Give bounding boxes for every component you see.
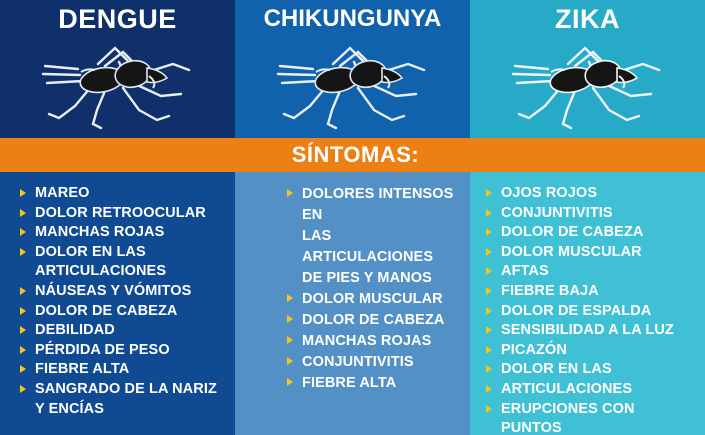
symptom-list-dengue: MAREODOLOR RETROOCULARMANCHAS ROJASDOLOR… (20, 184, 229, 419)
bullet-arrow-icon (287, 357, 293, 365)
symptom-label: AFTAS (501, 263, 549, 279)
symptom-item: DOLOR RETROOCULAR (20, 204, 229, 224)
bullet-arrow-icon (20, 326, 26, 334)
symptom-item: SENSIBILIDAD A LA LUZ (486, 321, 699, 341)
symptom-label: DOLOR DE CABEZA (35, 303, 177, 319)
symptom-column-dengue: MAREODOLOR RETROOCULARMANCHAS ROJASDOLOR… (0, 172, 235, 435)
symptom-label: FIEBRE BAJA (501, 283, 599, 299)
symptom-item: CONJUNTIVITIS (287, 352, 464, 373)
bullet-arrow-icon (20, 228, 26, 236)
bullet-arrow-icon (486, 326, 492, 334)
bullet-arrow-icon (20, 346, 26, 354)
header-title-zika: ZIKA (555, 4, 620, 34)
symptom-item: CONJUNTIVITIS (486, 204, 699, 224)
dengue-chikungunya-zika-infographic: DENGUE (0, 0, 705, 435)
bullet-arrow-icon (486, 189, 492, 197)
symptom-label: CONJUNTIVITIS (501, 205, 613, 221)
symptom-label: MAREO (35, 185, 89, 201)
symptom-label: ARTICULACIONES (35, 263, 166, 279)
symptom-label: DOLOR MUSCULAR (302, 291, 443, 307)
symptom-label: SANGRADO DE LA NARIZ (35, 381, 217, 397)
header-cell-dengue: DENGUE (0, 0, 235, 138)
symptom-item: MAREO (20, 184, 229, 204)
bullet-arrow-icon (486, 385, 492, 393)
symptom-item: DOLOR DE CABEZA (486, 223, 699, 243)
bullet-arrow-icon (20, 209, 26, 217)
symptom-item: DOLOR DE ESPALDA (486, 302, 699, 322)
bullet-arrow-icon (486, 346, 492, 354)
symptom-item: DOLOR EN LAS (486, 360, 699, 380)
symptom-item: DOLOR DE CABEZA (20, 302, 229, 322)
symptom-item: AFTAS (486, 262, 699, 282)
symptom-label: DOLORES INTENSOS EN (302, 186, 453, 223)
symptom-item: ARTICULACIONES (486, 380, 699, 400)
bullet-arrow-icon (287, 294, 293, 302)
symptom-label: Y ENCÍAS (35, 401, 104, 417)
bullet-arrow-icon (20, 248, 26, 256)
symptom-item: DOLOR MUSCULAR (486, 243, 699, 263)
symptom-label: DE PIES Y MANOS (302, 270, 432, 286)
header-cell-zika: ZIKA (470, 0, 705, 138)
bullet-arrow-icon (20, 365, 26, 373)
symptom-label: MANCHAS ROJAS (35, 224, 164, 240)
bullet-arrow-icon (287, 378, 293, 386)
symptom-label: OJOS ROJOS (501, 185, 597, 201)
symptom-item: LAS ARTICULACIONES (287, 226, 464, 268)
mosquito-icon (23, 36, 213, 132)
mosquito-icon (493, 36, 683, 132)
symptom-label: SENSIBILIDAD A LA LUZ (501, 322, 674, 338)
symptom-item: ERUPCIONES CON PUNTOS (486, 400, 699, 435)
header-row: DENGUE (0, 0, 705, 138)
symptom-item: DOLOR EN LAS (20, 243, 229, 263)
symptom-item: FIEBRE ALTA (20, 360, 229, 380)
symptom-item: DOLORES INTENSOS EN (287, 184, 464, 226)
symptom-item: OJOS ROJOS (486, 184, 699, 204)
symptom-label: DEBILIDAD (35, 322, 115, 338)
symptom-item: DE PIES Y MANOS (287, 268, 464, 289)
header-cell-chikungunya: CHIKUNGUNYA (235, 0, 470, 138)
symptom-label: LAS ARTICULACIONES (302, 228, 433, 265)
header-title-dengue: DENGUE (58, 4, 177, 34)
symptom-item: PICAZÓN (486, 341, 699, 361)
symptom-list-chikungunya: DOLORES INTENSOS ENLAS ARTICULACIONESDE … (287, 184, 464, 394)
symptom-label: FIEBRE ALTA (35, 361, 129, 377)
bullet-arrow-icon (486, 405, 492, 413)
symptom-columns: MAREODOLOR RETROOCULARMANCHAS ROJASDOLOR… (0, 172, 705, 435)
symptom-item: DOLOR DE CABEZA (287, 310, 464, 331)
symptom-label: FIEBRE ALTA (302, 375, 396, 391)
symptom-label: PICAZÓN (501, 342, 567, 358)
symptom-item: MANCHAS ROJAS (20, 223, 229, 243)
bullet-arrow-icon (20, 385, 26, 393)
symptom-item: Y ENCÍAS (20, 400, 229, 420)
symptom-label: NÁUSEAS Y VÓMITOS (35, 283, 191, 299)
bullet-arrow-icon (287, 336, 293, 344)
mosquito-icon (258, 36, 448, 132)
bullet-arrow-icon (486, 248, 492, 256)
bullet-arrow-icon (20, 307, 26, 315)
symptom-label: MANCHAS ROJAS (302, 333, 431, 349)
symptom-label: DOLOR MUSCULAR (501, 244, 642, 260)
symptom-label: DOLOR DE CABEZA (501, 224, 643, 240)
symptom-column-chikungunya: DOLORES INTENSOS ENLAS ARTICULACIONESDE … (235, 172, 470, 435)
symptom-label: CONJUNTIVITIS (302, 354, 414, 370)
symptom-item: ARTICULACIONES (20, 262, 229, 282)
symptom-item: SANGRADO DE LA NARIZ (20, 380, 229, 400)
bullet-arrow-icon (20, 287, 26, 295)
symptom-label: DOLOR EN LAS (501, 361, 612, 377)
bullet-arrow-icon (287, 315, 293, 323)
symptom-label: ARTICULACIONES (501, 381, 632, 397)
bullet-arrow-icon (486, 307, 492, 315)
bullet-arrow-icon (20, 189, 26, 197)
bullet-arrow-icon (486, 228, 492, 236)
symptom-item: FIEBRE ALTA (287, 373, 464, 394)
symptom-label: DOLOR RETROOCULAR (35, 205, 206, 221)
symptom-column-zika: OJOS ROJOSCONJUNTIVITISDOLOR DE CABEZADO… (470, 172, 705, 435)
bullet-arrow-icon (486, 287, 492, 295)
bullet-arrow-icon (287, 189, 293, 197)
bullet-arrow-icon (486, 267, 492, 275)
bullet-arrow-icon (486, 365, 492, 373)
symptoms-banner: SÍNTOMAS: (0, 138, 705, 172)
symptoms-banner-label: SÍNTOMAS: (286, 143, 420, 167)
symptom-list-zika: OJOS ROJOSCONJUNTIVITISDOLOR DE CABEZADO… (486, 184, 699, 435)
symptom-label: PÉRDIDA DE PESO (35, 342, 170, 358)
symptom-label: DOLOR EN LAS (35, 244, 146, 260)
symptom-label: DOLOR DE CABEZA (302, 312, 444, 328)
symptom-item: PÉRDIDA DE PESO (20, 341, 229, 361)
symptom-item: MANCHAS ROJAS (287, 331, 464, 352)
symptom-item: DOLOR MUSCULAR (287, 289, 464, 310)
symptom-item: DEBILIDAD (20, 321, 229, 341)
symptom-label: ERUPCIONES CON PUNTOS (501, 401, 635, 435)
header-title-chikungunya: CHIKUNGUNYA (264, 4, 442, 34)
bullet-arrow-icon (486, 209, 492, 217)
symptom-item: NÁUSEAS Y VÓMITOS (20, 282, 229, 302)
symptom-item: FIEBRE BAJA (486, 282, 699, 302)
symptom-label: DOLOR DE ESPALDA (501, 303, 651, 319)
